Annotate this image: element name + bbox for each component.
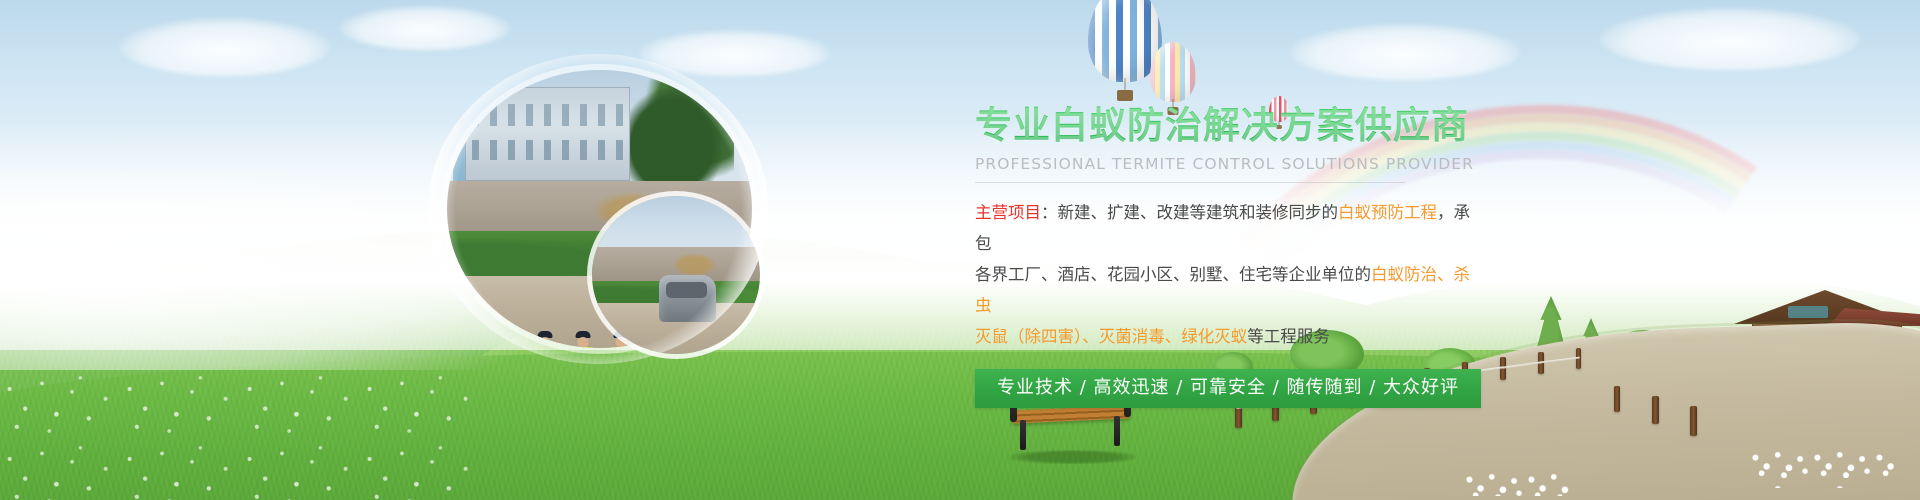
fence-post <box>1690 406 1697 436</box>
photo-tree <box>630 76 734 193</box>
worker-vest <box>533 347 557 348</box>
body-line-2: 各界工厂、酒店、花园小区、别墅、住宅等企业单位的白蚁防治、杀虫 <box>975 259 1475 321</box>
body-copy: 主营项目：新建、扩建、改建等建筑和装修同步的白蚁预防工程，承包 各界工厂、酒店、… <box>975 197 1475 352</box>
body-line-1: 主营项目：新建、扩建、改建等建筑和装修同步的白蚁预防工程，承包 <box>975 197 1475 259</box>
banner-text-panel: 专业白蚁防治解决方案供应商 PROFESSIONAL TERMITE CONTR… <box>975 105 1495 408</box>
body-line-3: 灭鼠（除四害）、灭菌消毒、绿化灭蚁等工程服务 <box>975 321 1475 352</box>
bench-leg-left <box>1020 420 1026 450</box>
left-haze <box>0 170 520 370</box>
tagline-banner[interactable]: 专业技术 / 高效迅速 / 可靠安全 / 随传随到 / 大众好评 <box>975 369 1481 408</box>
highlight-rodent-disinfection: 灭鼠（除四害）、灭菌消毒、绿化灭蚁 <box>975 327 1247 346</box>
photo-building <box>465 87 630 182</box>
fence-post <box>1614 386 1620 412</box>
photo-van <box>659 275 716 322</box>
house-gable-window <box>1788 306 1828 318</box>
body-line2-part1: 各界工厂、酒店、花园小区、别墅、住宅等企业单位的 <box>975 265 1371 284</box>
worker-vest <box>495 347 519 348</box>
body-line3-part2: 等工程服务 <box>1247 327 1330 346</box>
worker-cap <box>626 351 638 354</box>
daisy-cluster-1 <box>1748 444 1898 488</box>
cloud-1 <box>120 18 330 76</box>
worker-cap <box>592 351 604 354</box>
balloon-envelope <box>1150 42 1196 102</box>
cloud-3 <box>1290 24 1520 80</box>
balloon-basket <box>1117 90 1133 101</box>
body-line1-part2: ：新建、扩建、改建等建筑和装修同步的 <box>1041 203 1338 222</box>
bench-leg-right <box>1114 416 1120 446</box>
bench-shadow <box>1010 450 1136 464</box>
clover-field <box>0 368 470 500</box>
page-title: 专业白蚁防治解决方案供应商 <box>975 105 1495 148</box>
cloud-2 <box>340 6 510 50</box>
hot-air-balloon-small-icon <box>1150 42 1196 102</box>
bench-seat <box>1012 405 1130 423</box>
team-photo-secondary <box>592 196 760 354</box>
divider <box>975 182 1405 183</box>
highlight-termite-prevention: 白蚁预防工程 <box>1338 203 1437 222</box>
worker-vest <box>457 347 481 348</box>
cloud-4 <box>1600 8 1860 70</box>
hero-banner: 专业白蚁防治解决方案供应商 PROFESSIONAL TERMITE CONTR… <box>0 0 1920 500</box>
fence-post <box>1652 396 1659 424</box>
label-main-services: 主营项目 <box>975 203 1041 222</box>
daisy-cluster-2 <box>1462 466 1572 496</box>
subtitle-english: PROFESSIONAL TERMITE CONTROL SOLUTIONS P… <box>975 155 1495 173</box>
